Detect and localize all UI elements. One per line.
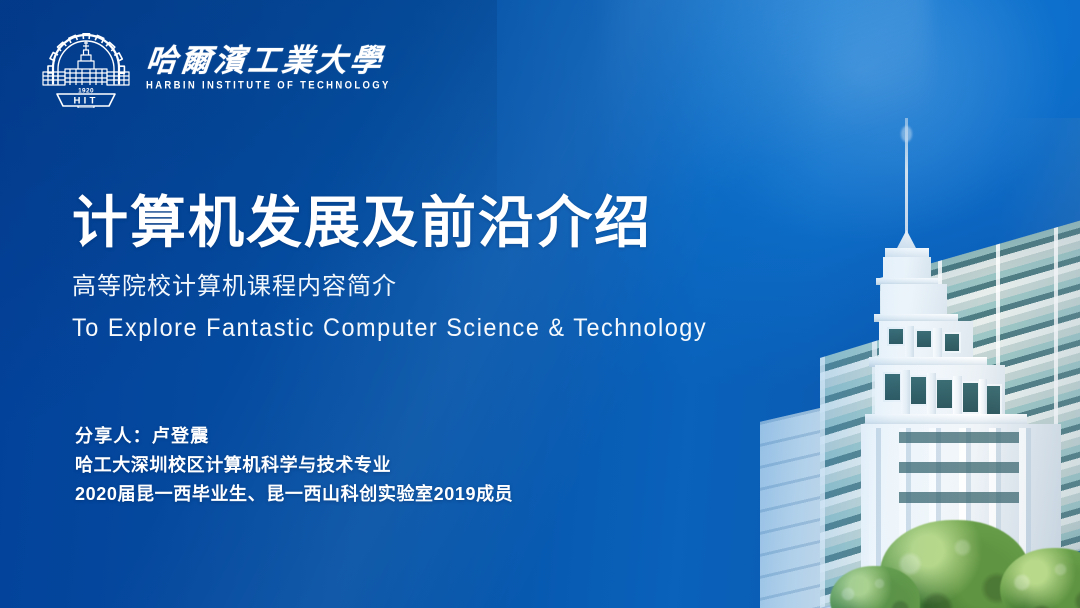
title-slide: 1920 HIT 哈爾濱工業大學 HARBIN INSTITUTE OF TEC… [0, 0, 1080, 608]
presenter-block: 分享人：卢登震 哈工大深圳校区计算机科学与技术专业 2020届昆一西毕业生、昆一… [75, 422, 513, 509]
logo-wordmark: 哈爾濱工業大學 HARBIN INSTITUTE OF TECHNOLOGY [146, 45, 391, 90]
page-subtitle-cn: 高等院校计算机课程内容简介 [72, 266, 748, 301]
page-title: 计算机发展及前沿介绍 [72, 192, 748, 254]
presenter-name-line: 分享人：卢登震 [75, 422, 513, 451]
slide-content: 1920 HIT 哈爾濱工業大學 HARBIN INSTITUTE OF TEC… [0, 0, 1080, 608]
presenter-affiliation-line: 哈工大深圳校区计算机科学与技术专业 [75, 451, 513, 480]
emblem-letters-text: HIT [73, 95, 98, 106]
headline-block: 计算机发展及前沿介绍 高等院校计算机课程内容简介 To Explore Fant… [72, 192, 748, 343]
hit-emblem-icon: 1920 HIT [40, 28, 132, 108]
logo-university-name-en: HARBIN INSTITUTE OF TECHNOLOGY [146, 79, 391, 92]
university-logo-lockup: 1920 HIT 哈爾濱工業大學 HARBIN INSTITUTE OF TEC… [40, 28, 391, 108]
presenter-credentials-line: 2020届昆一西毕业生、昆一西山科创实验室2019成员 [75, 480, 513, 509]
page-subtitle-en: To Explore Fantastic Computer Science & … [72, 314, 707, 343]
logo-university-name-cn: 哈爾濱工業大學 [144, 45, 392, 77]
